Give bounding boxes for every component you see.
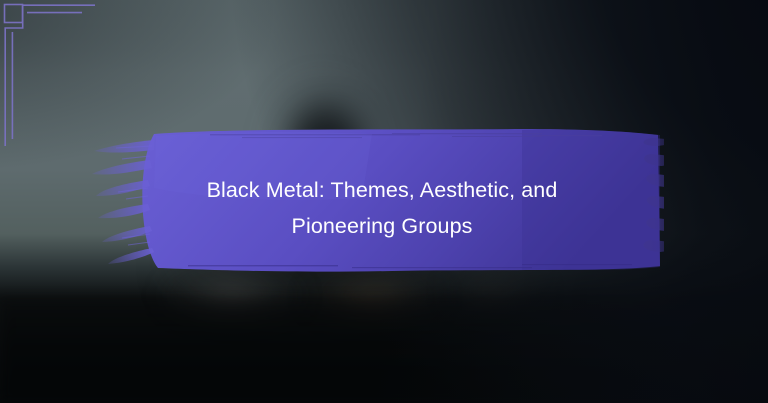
banner-title-line-2: Pioneering Groups bbox=[152, 208, 612, 244]
featured-image-card: Black Metal: Themes, Aesthetic, and Pion… bbox=[0, 0, 768, 403]
banner-title-line-1: Black Metal: Themes, Aesthetic, and bbox=[152, 172, 612, 208]
banner-title: Black Metal: Themes, Aesthetic, and Pion… bbox=[152, 172, 612, 244]
title-banner: Black Metal: Themes, Aesthetic, and Pion… bbox=[92, 126, 664, 276]
